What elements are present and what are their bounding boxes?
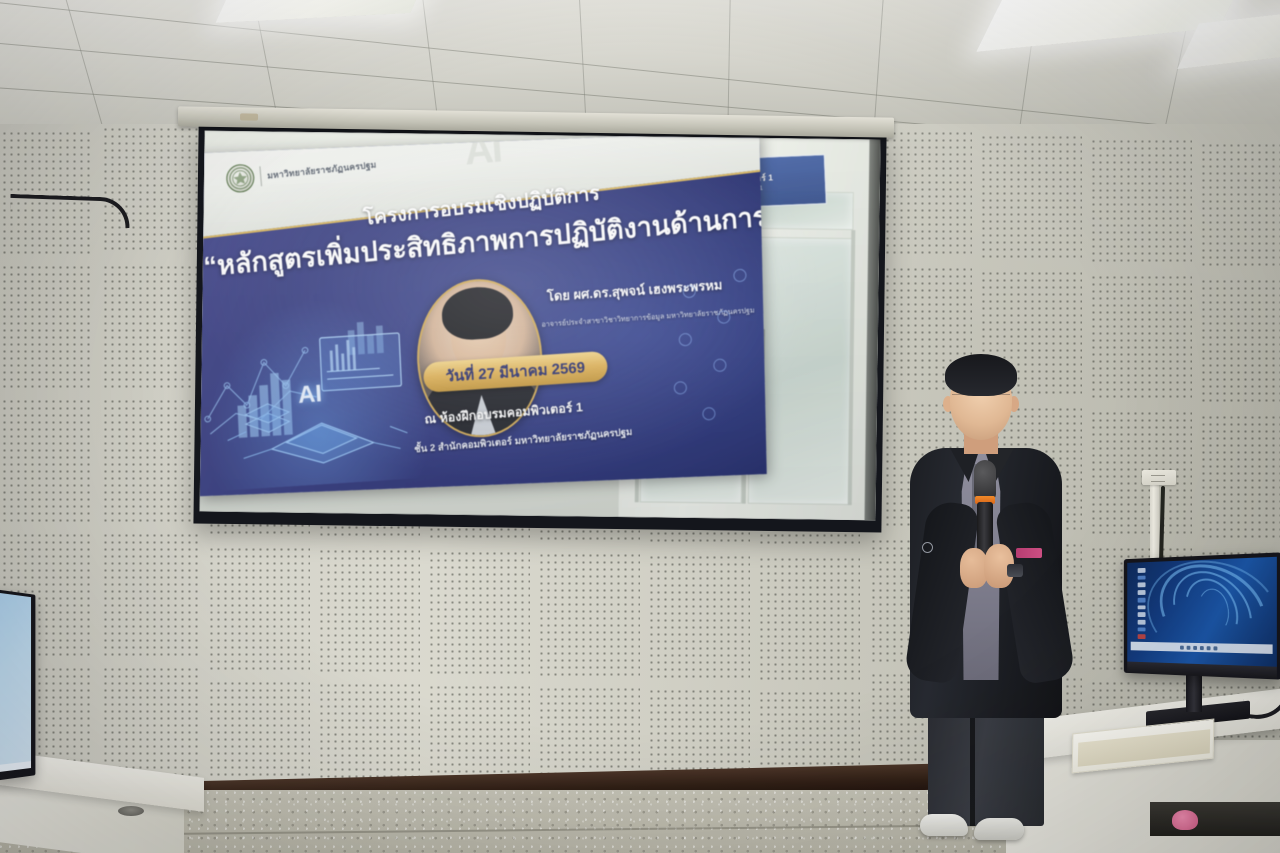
microphone-head-icon	[974, 460, 996, 500]
desktop-icon[interactable]	[1137, 634, 1145, 639]
desk-shelf-opening	[1150, 802, 1280, 836]
desktop-icon[interactable]	[1137, 627, 1145, 632]
cable-conduit	[1150, 484, 1159, 562]
taskbar-icon[interactable]	[1213, 646, 1217, 650]
wristwatch	[1007, 564, 1023, 577]
taskbar-icon[interactable]	[1206, 646, 1210, 650]
taskbar-icon[interactable]	[1180, 645, 1184, 649]
name-badge	[1016, 548, 1042, 558]
logo-divider	[260, 165, 263, 185]
desk-cable-grommet	[118, 806, 144, 816]
desktop-icon[interactable]	[1137, 620, 1145, 625]
presenter-hair	[945, 354, 1017, 396]
monitor-bezel	[1124, 552, 1280, 679]
ai-artwork-label: AI	[297, 380, 323, 410]
pink-object-under-desk	[1172, 810, 1198, 830]
desktop-monitor[interactable]	[1116, 556, 1280, 732]
desktop-icon[interactable]	[1137, 590, 1145, 595]
desktop-icon[interactable]	[1137, 598, 1145, 603]
monitor-cable	[10, 194, 131, 228]
projector-screen-surface: ห้องฝึกอบรมคอมพิวเตอร์ 1 Computer Traini…	[200, 131, 881, 521]
presenter-shoe	[974, 818, 1024, 840]
monitor-stand-neck	[1186, 670, 1202, 712]
desktop-icon[interactable]	[1137, 605, 1145, 610]
desktop-icon[interactable]	[1137, 612, 1145, 617]
taskbar-icon[interactable]	[1193, 645, 1197, 649]
desktop-icon[interactable]	[1137, 583, 1145, 588]
jacket-logo-pin-icon	[922, 542, 933, 553]
taskbar-icon[interactable]	[1186, 645, 1190, 649]
desktop-icon[interactable]	[1137, 568, 1145, 573]
desktop-monitor-left[interactable]	[0, 592, 44, 792]
ai-illustration: AI	[200, 292, 434, 491]
monitor-bezel	[0, 589, 35, 781]
power-outlet[interactable]	[1142, 470, 1176, 485]
event-banner: มหาวิทยาลัยราชภัฏนครปฐม AI โครงการอบรมเช…	[200, 131, 767, 496]
desktop-icon[interactable]	[1137, 575, 1145, 580]
presenter-shoe	[920, 814, 968, 836]
university-name-label: มหาวิทยาลัยราชภัฏนครปฐม	[267, 157, 377, 182]
banner-ai-brandmark: AI	[463, 131, 502, 175]
presenter	[898, 352, 1076, 838]
monitor-screen[interactable]	[0, 592, 31, 772]
university-seal-icon	[225, 162, 255, 193]
projector-screen: ห้องฝึกอบรมคอมพิวเตอร์ 1 Computer Traini…	[193, 126, 886, 533]
projected-photograph: ห้องฝึกอบรมคอมพิวเตอร์ 1 Computer Traini…	[200, 131, 881, 521]
taskbar[interactable]	[1131, 642, 1273, 654]
desktop-icons[interactable]	[1132, 568, 1151, 639]
monitor-screen[interactable]	[1127, 557, 1277, 667]
classroom-photo-scene: ห้องฝึกอบรมคอมพิวเตอร์ 1 Computer Traini…	[0, 0, 1280, 853]
taskbar-icon[interactable]	[1199, 646, 1203, 650]
presenter-trousers	[928, 704, 1044, 826]
